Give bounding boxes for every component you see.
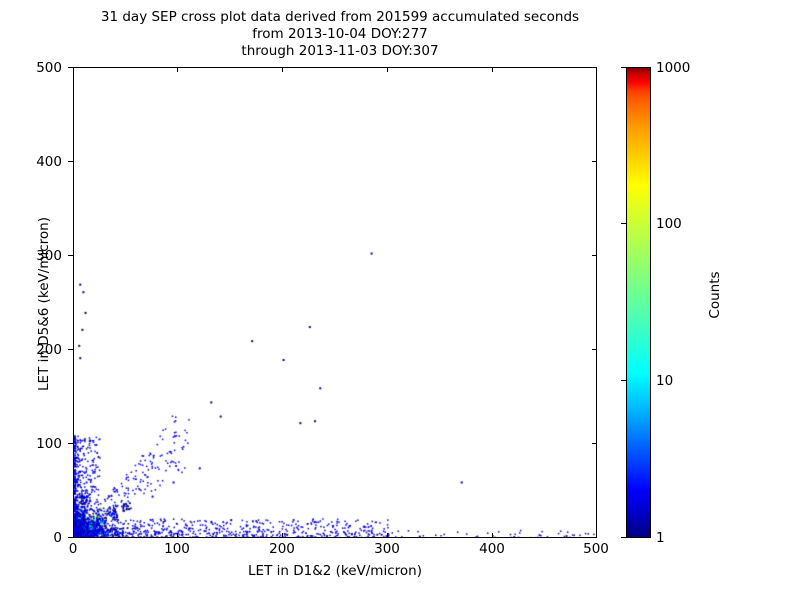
xtick-top-100: [177, 67, 178, 72]
colorbar-ticklabel-1: 1: [656, 530, 665, 546]
xticklabel-500: 500: [566, 541, 626, 557]
figure-canvas: 31 day SEP cross plot data derived from …: [0, 0, 800, 600]
chart-title-line-2: from 2013-10-04 DOY:277: [0, 26, 680, 43]
colorbar-tick-10: [621, 380, 626, 381]
yticklabel-500: 500: [10, 60, 62, 76]
colorbar-ticklabel-10: 10: [656, 373, 673, 389]
x-axis-label: LET in D1&2 (keV/micron): [73, 563, 597, 579]
xticklabel-100: 100: [147, 541, 207, 557]
ytick-0: [68, 537, 73, 538]
scatter-plot-data-layer: [74, 68, 597, 538]
xtick-top-0: [73, 67, 74, 72]
xticklabel-400: 400: [462, 541, 522, 557]
yticklabel-0: 0: [10, 530, 62, 546]
colorbar-tick-1: [621, 537, 626, 538]
colorbar-ticklabel-1000: 1000: [656, 60, 690, 76]
ytick-right-200: [592, 349, 597, 350]
chart-title-line-1: 31 day SEP cross plot data derived from …: [0, 9, 680, 26]
xticklabel-300: 300: [357, 541, 417, 557]
ytick-right-0: [592, 537, 597, 538]
ytick-100: [68, 443, 73, 444]
colorbar-ticklabel-100: 100: [656, 216, 682, 232]
ytick-400: [68, 161, 73, 162]
colorbar-tick-100: [621, 223, 626, 224]
ytick-right-300: [592, 255, 597, 256]
plot-axes-frame: [73, 67, 597, 538]
colorbar-gradient: [626, 67, 651, 538]
xtick-top-200: [282, 67, 283, 72]
ytick-500: [68, 67, 73, 68]
xticklabel-200: 200: [252, 541, 312, 557]
ytick-right-500: [592, 67, 597, 68]
xtick-0: [73, 533, 74, 538]
ytick-right-100: [592, 443, 597, 444]
y-axis-label: LET in D5&6 (keV/micron): [36, 154, 52, 454]
xtick-400: [492, 533, 493, 538]
chart-title-line-3: through 2013-11-03 DOY:307: [0, 43, 680, 60]
xtick-top-400: [492, 67, 493, 72]
xtick-top-300: [387, 67, 388, 72]
chart-title: 31 day SEP cross plot data derived from …: [0, 9, 680, 60]
ytick-200: [68, 349, 73, 350]
colorbar-tick-1000: [621, 67, 626, 68]
ytick-right-400: [592, 161, 597, 162]
xtick-300: [387, 533, 388, 538]
xtick-100: [177, 533, 178, 538]
colorbar-label: Counts: [707, 205, 723, 385]
xtick-200: [282, 533, 283, 538]
ytick-300: [68, 255, 73, 256]
